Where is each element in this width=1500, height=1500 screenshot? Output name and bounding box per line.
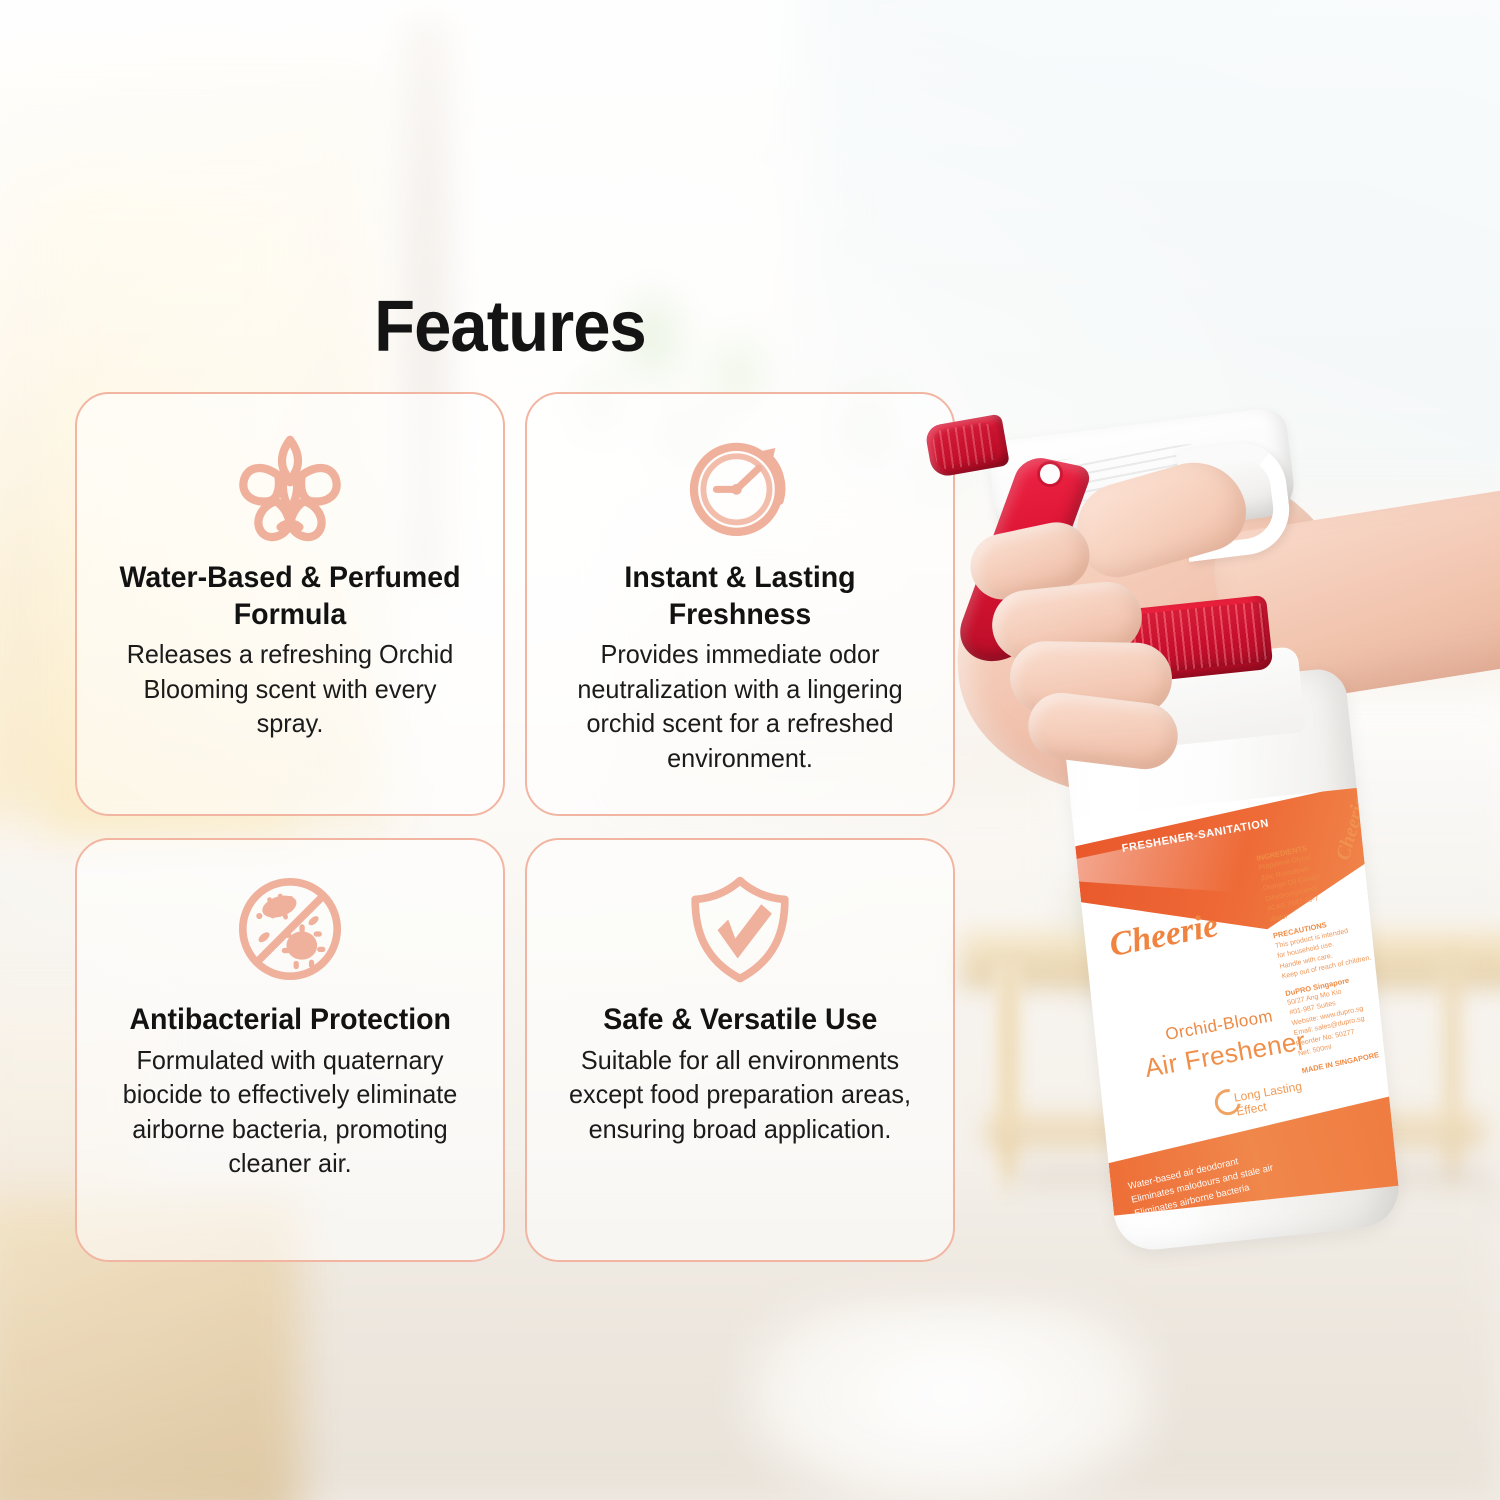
no-bacteria-icon bbox=[231, 870, 349, 988]
orchid-flower-icon bbox=[231, 428, 349, 546]
feature-card-title: Water-Based & Perfumed Formula bbox=[109, 560, 472, 633]
product-photo: FRESHENER-SANITATION Cheerie Cheerie Orc… bbox=[900, 380, 1500, 1280]
page-title: Features bbox=[36, 286, 985, 368]
feature-card-body: Releases a refreshing Orchid Blooming sc… bbox=[115, 637, 464, 741]
label-effect-line1: Long Lasting bbox=[1233, 1079, 1303, 1105]
feature-card-water-based[interactable]: Water-Based & Perfumed Formula Releases … bbox=[75, 392, 505, 816]
product-label: FRESHENER-SANITATION Cheerie Cheerie Orc… bbox=[1072, 788, 1398, 1216]
trigger-pivot-pin bbox=[1040, 464, 1060, 484]
feature-card-safe-versatile[interactable]: Safe & Versatile Use Suitable for all en… bbox=[525, 838, 955, 1262]
shield-check-icon bbox=[681, 870, 799, 988]
brand-logo: Cheerie bbox=[1106, 907, 1221, 965]
feature-card-body: Formulated with quaternary biocide to ef… bbox=[115, 1043, 464, 1181]
feature-card-body: Provides immediate odor neutralization w… bbox=[565, 637, 914, 775]
feature-infographic: Features Water-Based & Perfumed Formula … bbox=[0, 0, 1500, 1500]
feature-card-lasting-freshness[interactable]: Instant & Lasting Freshness Provides imm… bbox=[525, 392, 955, 816]
feature-card-body: Suitable for all environments except foo… bbox=[565, 1043, 914, 1147]
feature-card-title: Antibacterial Protection bbox=[129, 1002, 450, 1039]
feature-card-title: Instant & Lasting Freshness bbox=[559, 560, 922, 633]
label-effect: Long Lasting Effect bbox=[1233, 1079, 1306, 1119]
feature-card-grid: Water-Based & Perfumed Formula Releases … bbox=[75, 392, 955, 1262]
feature-card-antibacterial[interactable]: Antibacterial Protection Formulated with… bbox=[75, 838, 505, 1262]
clock-refresh-icon bbox=[681, 428, 799, 546]
feature-card-title: Safe & Versatile Use bbox=[603, 1002, 877, 1039]
